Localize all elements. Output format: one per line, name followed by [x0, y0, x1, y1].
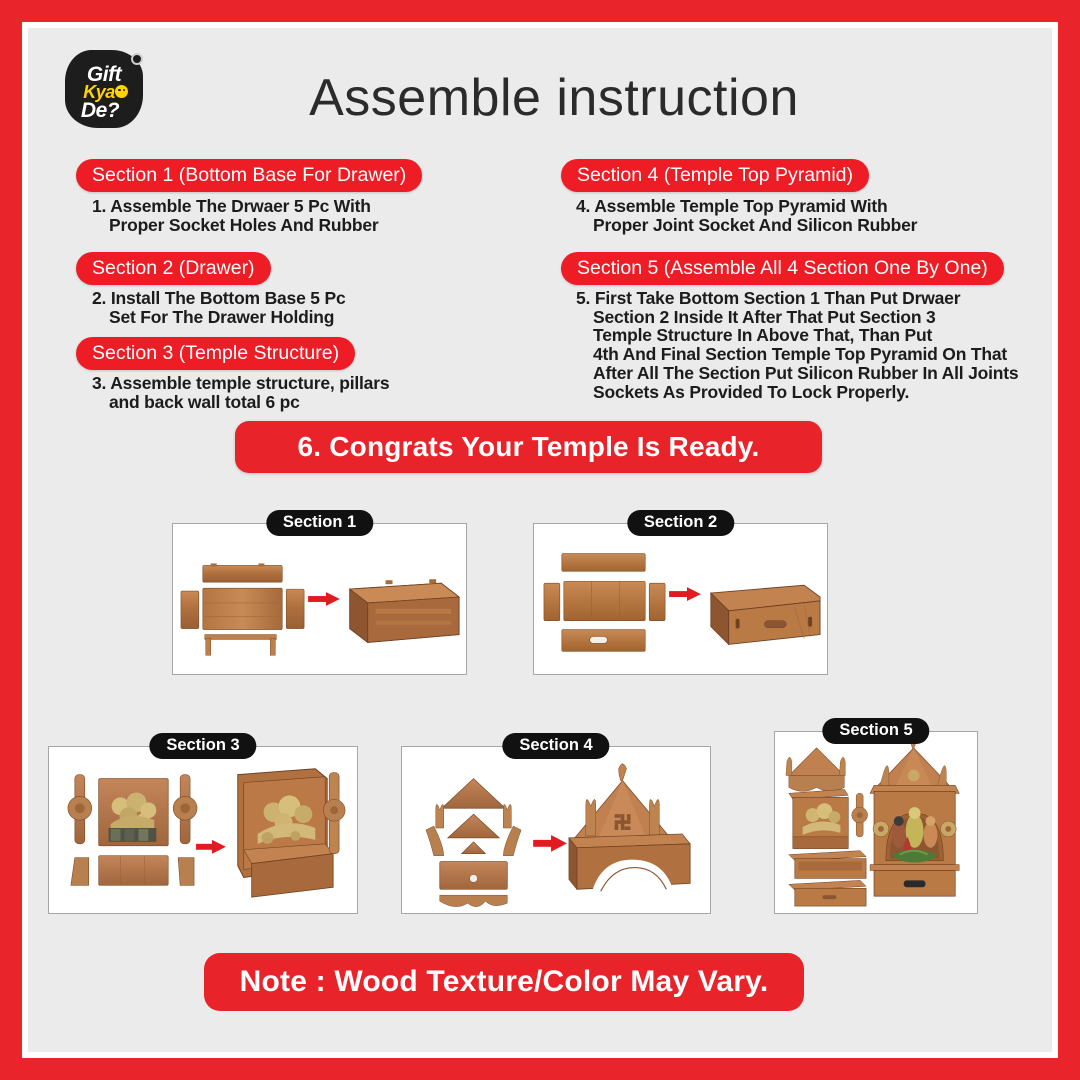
note-banner: Note : Wood Texture/Color May Vary.	[204, 953, 804, 1011]
step-text-3: 3. Assemble temple structure, pillars an…	[92, 374, 389, 411]
swastika-motif	[615, 814, 631, 830]
step-body-4: Assemble Temple Top Pyramid With Proper …	[593, 196, 917, 235]
congrats-banner: 6. Congrats Your Temple Is Ready.	[235, 421, 822, 473]
section-4-illustration	[402, 747, 710, 913]
panel-section-1: Section 1	[172, 523, 467, 675]
panel-art-2	[534, 524, 827, 674]
panel-badge-4: Section 4	[502, 733, 609, 759]
step-body-2: Install The Bottom Base 5 Pc Set For The…	[109, 288, 345, 327]
assembly-arrow-4	[533, 835, 567, 852]
section-2-illustration	[534, 524, 827, 674]
section-pill-5: Section 5 (Assemble All 4 Section One By…	[561, 252, 1004, 285]
step-body-3: Assemble temple structure, pillars and b…	[109, 373, 389, 412]
white-gap: Gift Kya De? Assemble instruction Sectio…	[22, 22, 1058, 1058]
section-pill-1: Section 1 (Bottom Base For Drawer)	[76, 159, 422, 192]
panel-badge-1: Section 1	[266, 510, 373, 536]
section-pill-4: Section 4 (Temple Top Pyramid)	[561, 159, 869, 192]
section-pill-2: Section 2 (Drawer)	[76, 252, 271, 285]
panel-art-1	[173, 524, 466, 674]
panel-section-5: Section 5	[774, 731, 978, 914]
panel-badge-5: Section 5	[822, 718, 929, 744]
panel-section-4: Section 4	[401, 746, 711, 914]
step-number-1: 1.	[92, 196, 106, 216]
step-text-1: 1. Assemble The Drwaer 5 Pc With Proper …	[92, 197, 379, 234]
red-frame: Gift Kya De? Assemble instruction Sectio…	[0, 0, 1080, 1080]
panel-badge-2: Section 2	[627, 510, 734, 536]
panel-section-2: Section 2	[533, 523, 828, 675]
assembly-arrow-1	[308, 592, 340, 606]
step-body-1: Assemble The Drwaer 5 Pc With Proper Soc…	[109, 196, 379, 235]
section-5-illustration	[775, 732, 977, 913]
step-text-5: 5. First Take Bottom Section 1 Than Put …	[576, 289, 1018, 401]
step-number-4: 4.	[576, 196, 590, 216]
assembly-arrow-2	[669, 587, 701, 601]
page-title: Assemble instruction	[28, 68, 1052, 128]
panel-section-3: Section 3	[48, 746, 358, 914]
panel-art-3	[49, 747, 357, 913]
section-3-illustration	[49, 747, 357, 913]
step-number-5: 5.	[576, 288, 590, 308]
panel-badge-3: Section 3	[149, 733, 256, 759]
panel-art-5	[775, 732, 977, 913]
instruction-sheet: Gift Kya De? Assemble instruction Sectio…	[28, 28, 1052, 1052]
assembly-arrow-3	[196, 840, 226, 854]
section-pill-3: Section 3 (Temple Structure)	[76, 337, 355, 370]
step-text-4: 4. Assemble Temple Top Pyramid With Prop…	[576, 197, 917, 234]
step-text-2: 2. Install The Bottom Base 5 Pc Set For …	[92, 289, 345, 326]
section-1-illustration	[173, 524, 466, 674]
step-number-3: 3.	[92, 373, 106, 393]
step-number-2: 2.	[92, 288, 106, 308]
panel-art-4	[402, 747, 710, 913]
step-body-5: First Take Bottom Section 1 Than Put Drw…	[593, 288, 1018, 402]
